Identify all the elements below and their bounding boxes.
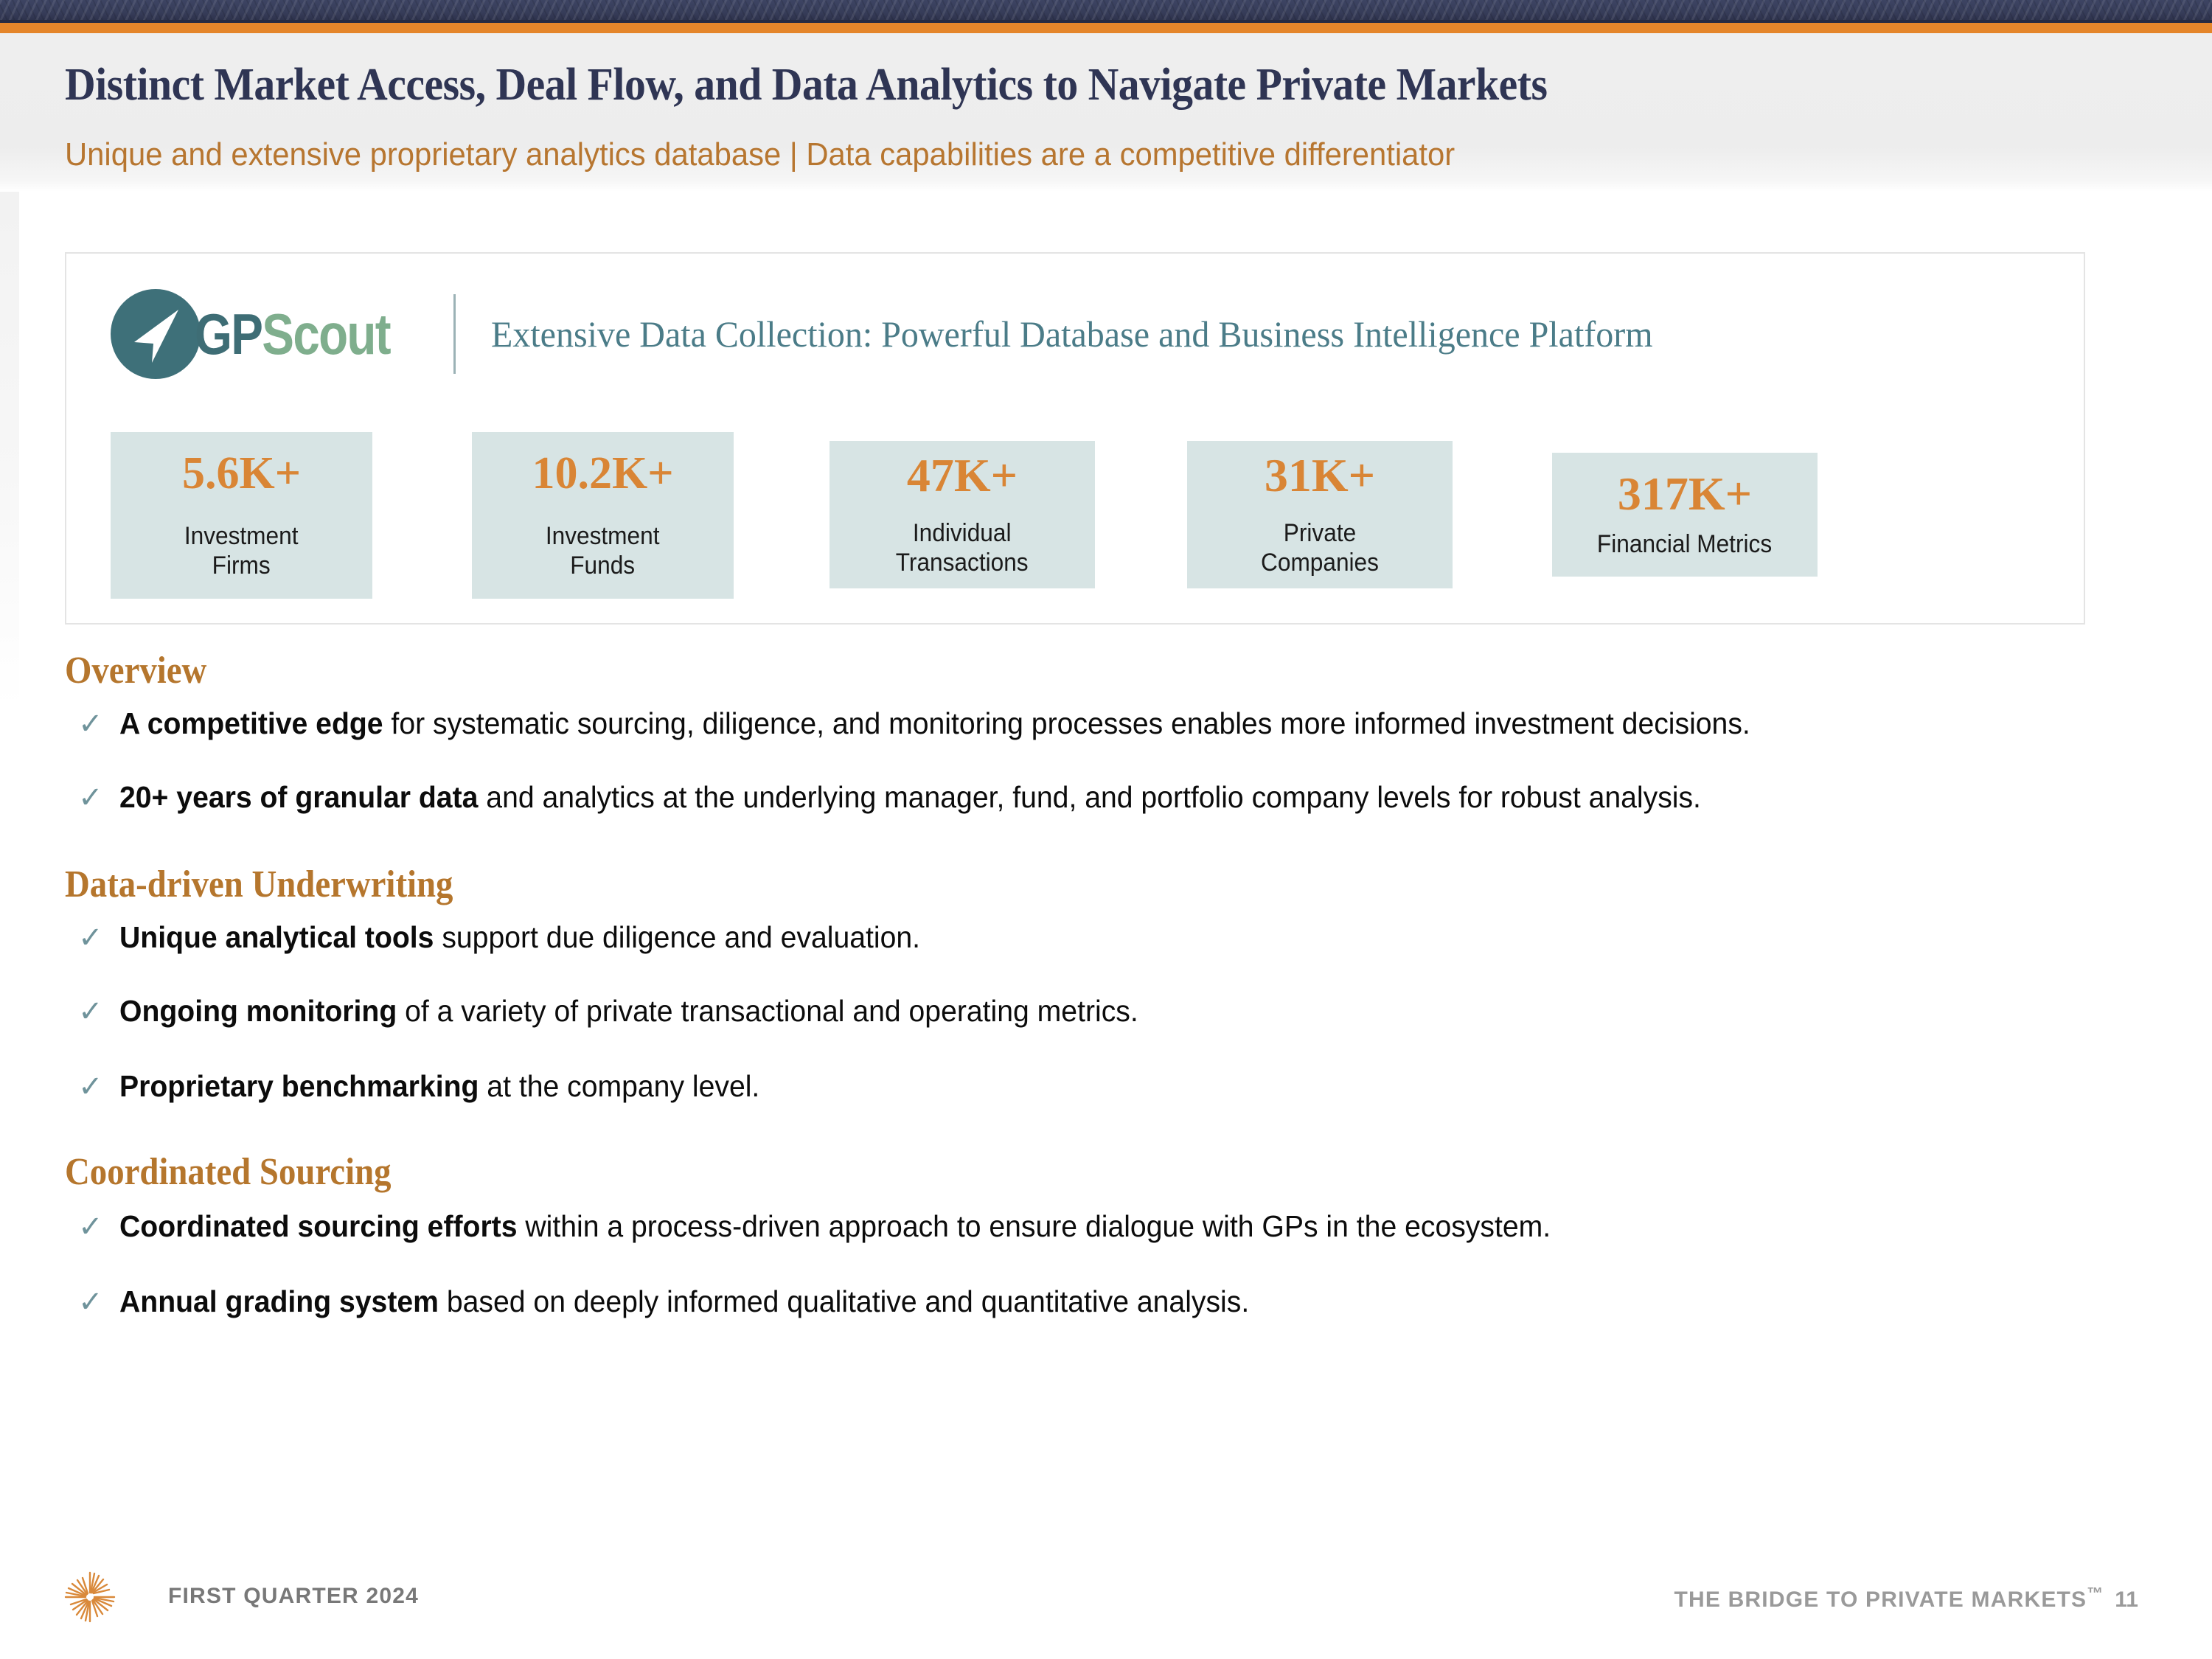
page-number: 11 (2115, 1587, 2138, 1612)
list-item-rest: at the company level. (479, 1069, 759, 1103)
logo-text-scout: Scout (262, 302, 390, 366)
card-heading: Extensive Data Collection: Powerful Data… (491, 313, 1653, 355)
check-icon: ✓ (78, 995, 119, 1029)
metric-value: 47K+ (907, 452, 1018, 499)
metric-tile: 31K+ Private Companies (1187, 441, 1453, 588)
check-icon: ✓ (78, 921, 119, 955)
check-icon: ✓ (78, 1285, 119, 1319)
list-item: ✓ Annual grading system based on deeply … (78, 1284, 1302, 1319)
slide-header: Distinct Market Access, Deal Flow, and D… (0, 33, 2212, 192)
list-item-rest: within a process-driven approach to ensu… (518, 1209, 1551, 1243)
list-item-text: 20+ years of granular data and analytics… (119, 780, 1701, 815)
list-item-lead: Unique analytical tools (119, 920, 434, 954)
list-item-lead: Proprietary benchmarking (119, 1069, 479, 1103)
page-title: Distinct Market Access, Deal Flow, and D… (65, 59, 1548, 111)
metric-label: Investment Funds (546, 521, 660, 580)
list-item: ✓ 20+ years of granular data and analyti… (78, 780, 1775, 815)
slide: Distinct Market Access, Deal Flow, and D… (0, 0, 2212, 1659)
footer-quarter-label: FIRST QUARTER 2024 (168, 1584, 419, 1609)
check-icon: ✓ (78, 1210, 119, 1244)
list-item-text: A competitive edge for systematic sourci… (119, 706, 1750, 741)
navy-top-band (0, 0, 2212, 22)
navigation-arrow-icon (111, 289, 201, 379)
metric-value: 317K+ (1618, 470, 1752, 518)
list-item-lead: Ongoing monitoring (119, 994, 397, 1028)
trademark-symbol: ™ (2087, 1584, 2103, 1602)
metric-value: 31K+ (1265, 452, 1375, 499)
check-icon: ✓ (78, 707, 119, 741)
gpscout-wordmark: GPScout (195, 305, 390, 363)
list-item-lead: A competitive edge (119, 706, 383, 740)
list-item-lead: 20+ years of granular data (119, 780, 478, 814)
metric-tile: 47K+ Individual Transactions (829, 441, 1095, 588)
logo-divider (453, 294, 456, 374)
list-item-text: Annual grading system based on deeply in… (119, 1284, 1249, 1319)
orange-accent-rule (0, 23, 2212, 33)
list-item-rest: for systematic sourcing, diligence, and … (383, 706, 1750, 740)
page-subtitle: Unique and extensive proprietary analyti… (65, 136, 1455, 173)
gpscout-logo-row: GPScout Extensive Data Collection: Power… (111, 289, 1702, 379)
metric-value: 10.2K+ (532, 451, 673, 496)
footer-tagline: THE BRIDGE TO PRIVATE MARKETS™11 (1674, 1584, 2138, 1613)
metric-tile: 317K+ Financial Metrics (1552, 453, 1818, 577)
metric-tile: 10.2K+ Investment Funds (472, 432, 734, 599)
list-item-rest: support due diligence and evaluation. (434, 920, 920, 954)
list-item: ✓ A competitive edge for systematic sour… (78, 706, 1827, 741)
list-item-rest: of a variety of private transactional an… (397, 994, 1138, 1028)
list-item-lead: Coordinated sourcing efforts (119, 1209, 518, 1243)
slide-footer: FIRST QUARTER 2024 THE BRIDGE TO PRIVATE… (0, 1548, 2212, 1659)
metric-label: Private Companies (1261, 518, 1379, 577)
metric-tiles: 5.6K+ Investment Firms 10.2K+ Investment… (111, 425, 2042, 602)
list-item: ✓ Unique analytical tools support due di… (78, 920, 958, 955)
metric-label: Individual Transactions (896, 518, 1029, 577)
check-icon: ✓ (78, 781, 119, 815)
list-item-text: Unique analytical tools support due dili… (119, 920, 920, 955)
metric-label: Investment Firms (184, 521, 299, 580)
pinwheel-starburst-icon (60, 1568, 119, 1627)
section-heading-data-driven-underwriting: Data-driven Underwriting (65, 863, 453, 906)
metric-label: Financial Metrics (1597, 529, 1772, 559)
section-heading-overview: Overview (65, 649, 206, 692)
list-item-rest: based on deeply informed qualitative and… (439, 1284, 1249, 1318)
list-item-text: Ongoing monitoring of a variety of priva… (119, 994, 1138, 1029)
list-item-rest: and analytics at the underlying manager,… (478, 780, 1701, 814)
list-item-text: Proprietary benchmarking at the company … (119, 1069, 759, 1104)
logo-text-gp: GP (195, 302, 262, 366)
check-icon: ✓ (78, 1070, 119, 1104)
list-item-text: Coordinated sourcing efforts within a pr… (119, 1209, 1551, 1244)
footer-tagline-text: THE BRIDGE TO PRIVATE MARKETS (1674, 1587, 2087, 1612)
left-gutter-shade (0, 192, 19, 708)
list-item: ✓ Coordinated sourcing efforts within a … (78, 1209, 1618, 1244)
list-item: ✓ Ongoing monitoring of a variety of pri… (78, 994, 1186, 1029)
list-item: ✓ Proprietary benchmarking at the compan… (78, 1069, 790, 1104)
metric-value: 5.6K+ (182, 451, 301, 496)
metric-tile: 5.6K+ Investment Firms (111, 432, 372, 599)
gpscout-card: GPScout Extensive Data Collection: Power… (65, 252, 2085, 625)
list-item-lead: Annual grading system (119, 1284, 439, 1318)
section-heading-coordinated-sourcing: Coordinated Sourcing (65, 1150, 392, 1194)
